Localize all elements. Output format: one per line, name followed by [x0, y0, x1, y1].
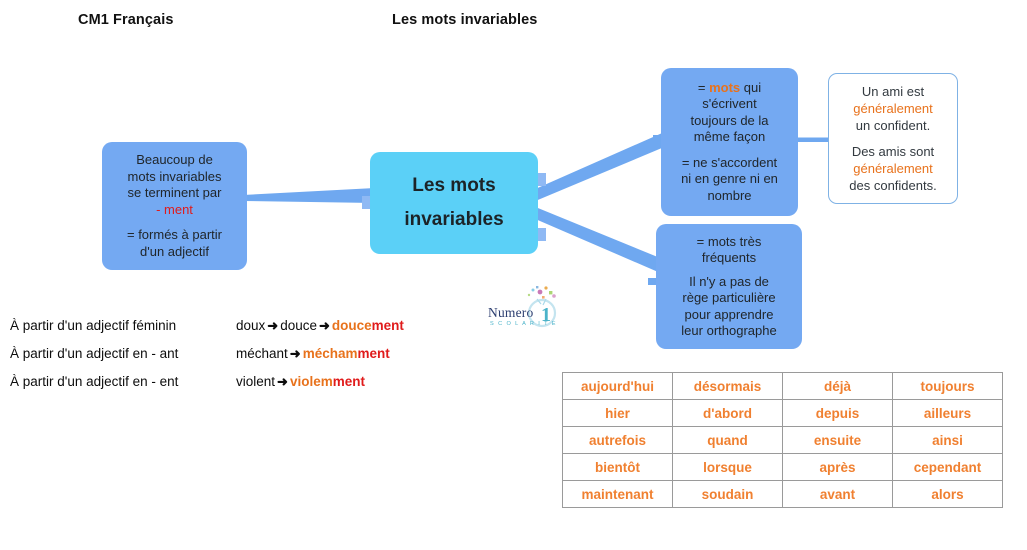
node-ment-line4: = formés à partir [127, 227, 222, 244]
example-sentence2-part1: Des amis sont [852, 143, 934, 160]
example-sentence1-part1: Un ami est [862, 83, 924, 100]
table-row: bientôt lorsque après cependant [563, 454, 1003, 481]
node-freq-line6: leur orthographe [681, 323, 776, 340]
table-cell: cependant [893, 454, 1003, 481]
example-derivation: doux➜douce➜doucement [236, 318, 404, 334]
node-mots-line2: s'écrivent [702, 96, 757, 113]
table-cell: soudain [673, 481, 783, 508]
table-cell: aujourd'hui [563, 373, 673, 400]
table-cell: ensuite [783, 427, 893, 454]
example-sentence1-keyword: généralement [853, 100, 933, 117]
page-title: Les mots invariables [392, 12, 537, 28]
table-cell: après [783, 454, 893, 481]
node-mots-line5: = ne s'accordent [682, 155, 777, 172]
example-middle-word: douce [280, 318, 317, 333]
node-mots-eq: = [698, 80, 706, 95]
node-mots-rest: qui [740, 80, 761, 95]
example-base-word: méchant [236, 346, 288, 361]
example-rule-label: À partir d'un adjectif en - ant [10, 346, 178, 361]
node-mots-line1: = mots qui [698, 80, 761, 97]
node-ment-suffix: - ment [156, 202, 193, 219]
node-ment-line1: Beaucoup de [136, 152, 213, 169]
table-cell: ainsi [893, 427, 1003, 454]
arrow-right-icon: ➜ [317, 318, 332, 333]
example-base-word: violent [236, 374, 275, 389]
example-result-suffix: ment [333, 374, 365, 389]
example-sentence2-keyword: généralement [853, 160, 933, 177]
table-cell: toujours [893, 373, 1003, 400]
example-derivation: violent➜violemment [236, 374, 365, 390]
connector-center-to-mots [533, 130, 669, 208]
node-ment-line5: d'un adjectif [140, 244, 209, 261]
example-rule-label: À partir d'un adjectif en - ent [10, 374, 178, 389]
table-cell: autrefois [563, 427, 673, 454]
table-cell: lorsque [673, 454, 783, 481]
table-cell: quand [673, 427, 783, 454]
node-center-line2: invariables [404, 203, 503, 237]
example-result-suffix: ment [357, 346, 389, 361]
table-cell: avant [783, 481, 893, 508]
table-cell: ailleurs [893, 400, 1003, 427]
node-mots-line3: toujours de la [690, 113, 768, 130]
table-row: maintenant soudain avant alors [563, 481, 1003, 508]
connector-mots-to-exemple [793, 136, 833, 144]
numero1-scolarite-logo: Numero 1 S C O L A R I T E [484, 283, 570, 331]
arrow-right-icon: ➜ [265, 318, 280, 333]
table-cell: maintenant [563, 481, 673, 508]
node-central-topic: Les mots invariables [370, 152, 538, 254]
node-mots-line4: même façon [694, 129, 766, 146]
example-derivation: méchant➜méchamment [236, 346, 390, 362]
node-mots-frequents: = mots très fréquents Il n'y a pas de rè… [656, 224, 802, 349]
arrow-right-icon: ➜ [288, 346, 303, 361]
svg-text:Numero: Numero [488, 305, 533, 320]
node-freq-line2: fréquents [702, 250, 756, 267]
table-cell: hier [563, 400, 673, 427]
node-ment-line2: mots invariables [128, 169, 222, 186]
node-ment-line3: se terminent par [128, 185, 222, 202]
connector-ment-to-center [243, 186, 375, 212]
node-mots-line7: nombre [707, 188, 751, 205]
example-result-suffix: ment [372, 318, 404, 333]
example-result-stem: douce [332, 318, 372, 333]
table-cell: désormais [673, 373, 783, 400]
page-subject-heading: CM1 Français [78, 12, 174, 28]
node-mots-keyword: mots [709, 80, 740, 95]
invariable-words-table: aujourd'hui désormais déjà toujours hier… [562, 372, 1003, 508]
node-freq-line5: pour apprendre [685, 307, 774, 324]
table-cell: d'abord [673, 400, 783, 427]
table-row: autrefois quand ensuite ainsi [563, 427, 1003, 454]
node-mots-invariables-definition: = mots qui s'écrivent toujours de la mêm… [661, 68, 798, 216]
arrow-right-icon: ➜ [275, 374, 290, 389]
connector-center-to-frequents [533, 198, 665, 278]
svg-text:S C O L A R I T E: S C O L A R I T E [490, 321, 557, 327]
example-sentence2-part3: des confidents. [849, 177, 936, 194]
node-freq-line4: rège particulière [682, 290, 775, 307]
example-result-stem: violem [290, 374, 333, 389]
table-cell: déjà [783, 373, 893, 400]
node-freq-line1: = mots très [697, 234, 762, 251]
table-row: aujourd'hui désormais déjà toujours [563, 373, 1003, 400]
example-base-word: doux [236, 318, 265, 333]
node-example-sentences: Un ami est généralement un confident. De… [828, 73, 958, 204]
node-mots-line6: ni en genre ni en [681, 171, 778, 188]
table-row: hier d'abord depuis ailleurs [563, 400, 1003, 427]
node-freq-line3: Il n'y a pas de [689, 274, 769, 291]
node-mots-en-ment: Beaucoup de mots invariables se terminen… [102, 142, 247, 270]
table-cell: depuis [783, 400, 893, 427]
example-sentence1-part3: un confident. [856, 117, 930, 134]
node-center-line1: Les mots [412, 169, 495, 203]
table-cell: bientôt [563, 454, 673, 481]
example-result-stem: mécham [303, 346, 358, 361]
table-cell: alors [893, 481, 1003, 508]
example-rule-label: À partir d'un adjectif féminin [10, 318, 176, 333]
